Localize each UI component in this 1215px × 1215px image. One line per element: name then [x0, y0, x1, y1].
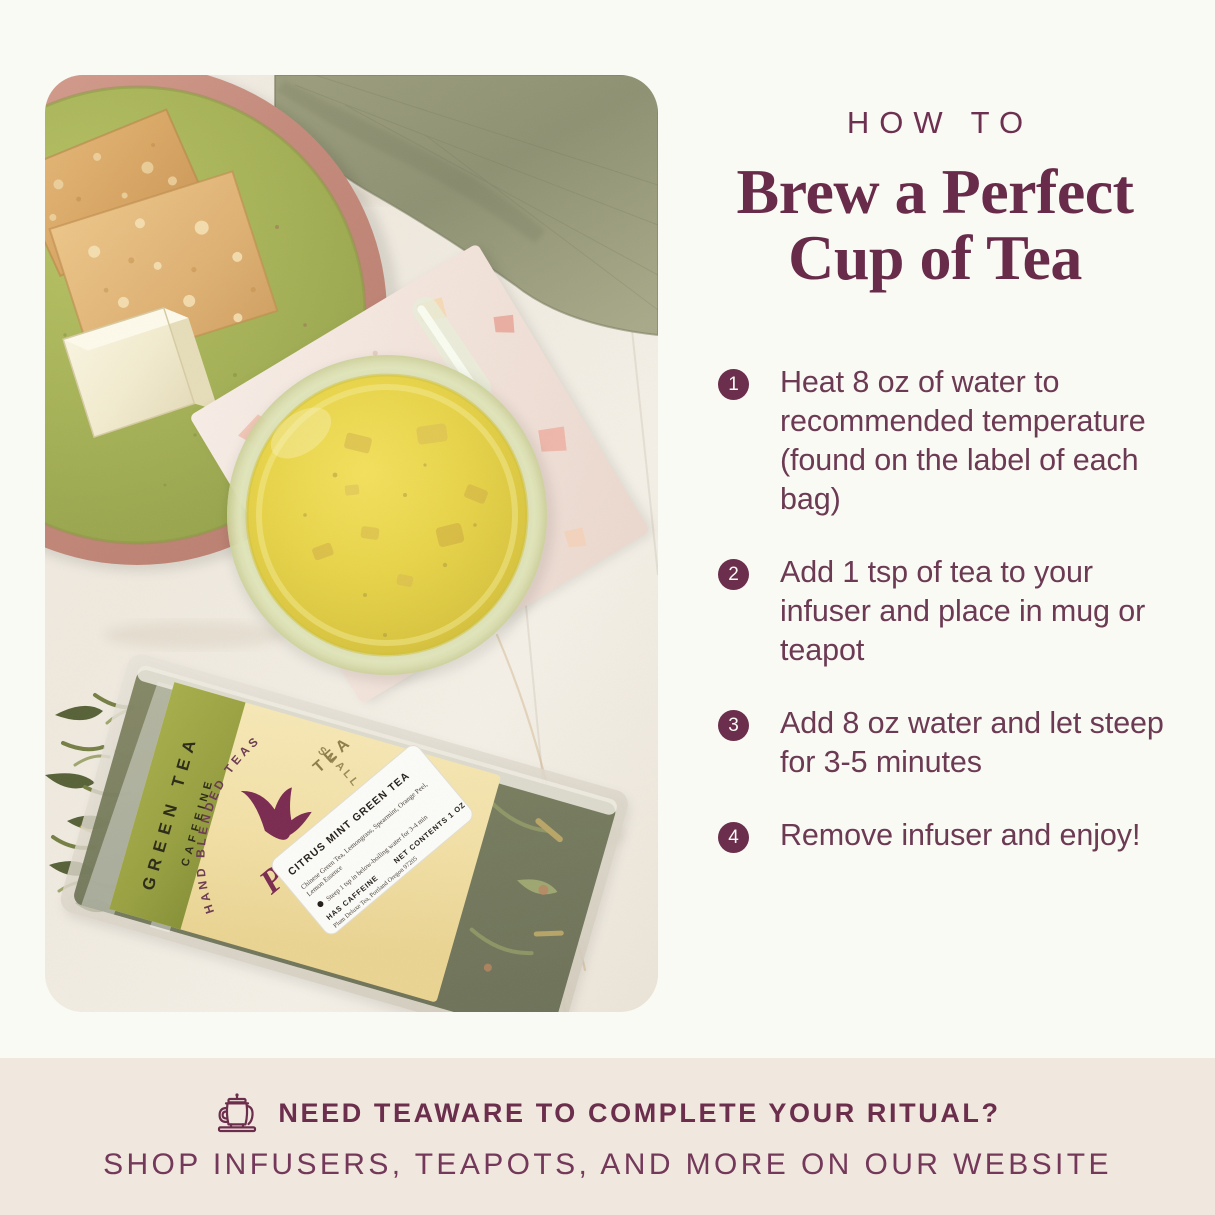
page-title: Brew a Perfect Cup of Tea	[700, 159, 1170, 291]
footer-subline: SHOP INFUSERS, TEAPOTS, AND MORE ON OUR …	[103, 1148, 1112, 1182]
kicker-label: HOW TO	[700, 105, 1170, 141]
footer-headline-row: NEED TEAWARE TO COMPLETE YOUR RITUAL?	[214, 1092, 1000, 1136]
list-item: 1 Heat 8 oz of water to recommended temp…	[718, 363, 1170, 519]
step-text: Remove infuser and enjoy!	[780, 816, 1140, 855]
step-number-badge: 2	[718, 559, 749, 590]
headline-line-2: Cup of Tea	[700, 225, 1170, 291]
step-number-badge: 1	[718, 369, 749, 400]
footer-headline: NEED TEAWARE TO COMPLETE YOUR RITUAL?	[278, 1098, 1000, 1129]
steps-list: 1 Heat 8 oz of water to recommended temp…	[700, 363, 1170, 855]
step-number-badge: 4	[718, 822, 749, 853]
list-item: 4 Remove infuser and enjoy!	[718, 816, 1170, 855]
infographic-canvas: GREEN TEA CAFFEINE HAND BLENDED TEAS SMA…	[0, 0, 1215, 1215]
footer-cta-band: NEED TEAWARE TO COMPLETE YOUR RITUAL? SH…	[0, 1058, 1215, 1215]
teapot-icon	[214, 1092, 260, 1136]
list-item: 3 Add 8 oz water and let steep for 3-5 m…	[718, 704, 1170, 782]
step-text: Add 8 oz water and let steep for 3-5 min…	[780, 704, 1170, 782]
step-text: Add 1 tsp of tea to your infuser and pla…	[780, 553, 1170, 670]
hero-photo-card: GREEN TEA CAFFEINE HAND BLENDED TEAS SMA…	[45, 75, 658, 1012]
step-number-badge: 3	[718, 710, 749, 741]
headline-line-1: Brew a Perfect	[737, 156, 1134, 227]
instructions-column: HOW TO Brew a Perfect Cup of Tea 1 Heat …	[700, 75, 1170, 975]
list-item: 2 Add 1 tsp of tea to your infuser and p…	[718, 553, 1170, 670]
tea-flatlay-photo: GREEN TEA CAFFEINE HAND BLENDED TEAS SMA…	[45, 75, 658, 1012]
content-area: GREEN TEA CAFFEINE HAND BLENDED TEAS SMA…	[0, 0, 1215, 1058]
step-text: Heat 8 oz of water to recommended temper…	[780, 363, 1170, 519]
